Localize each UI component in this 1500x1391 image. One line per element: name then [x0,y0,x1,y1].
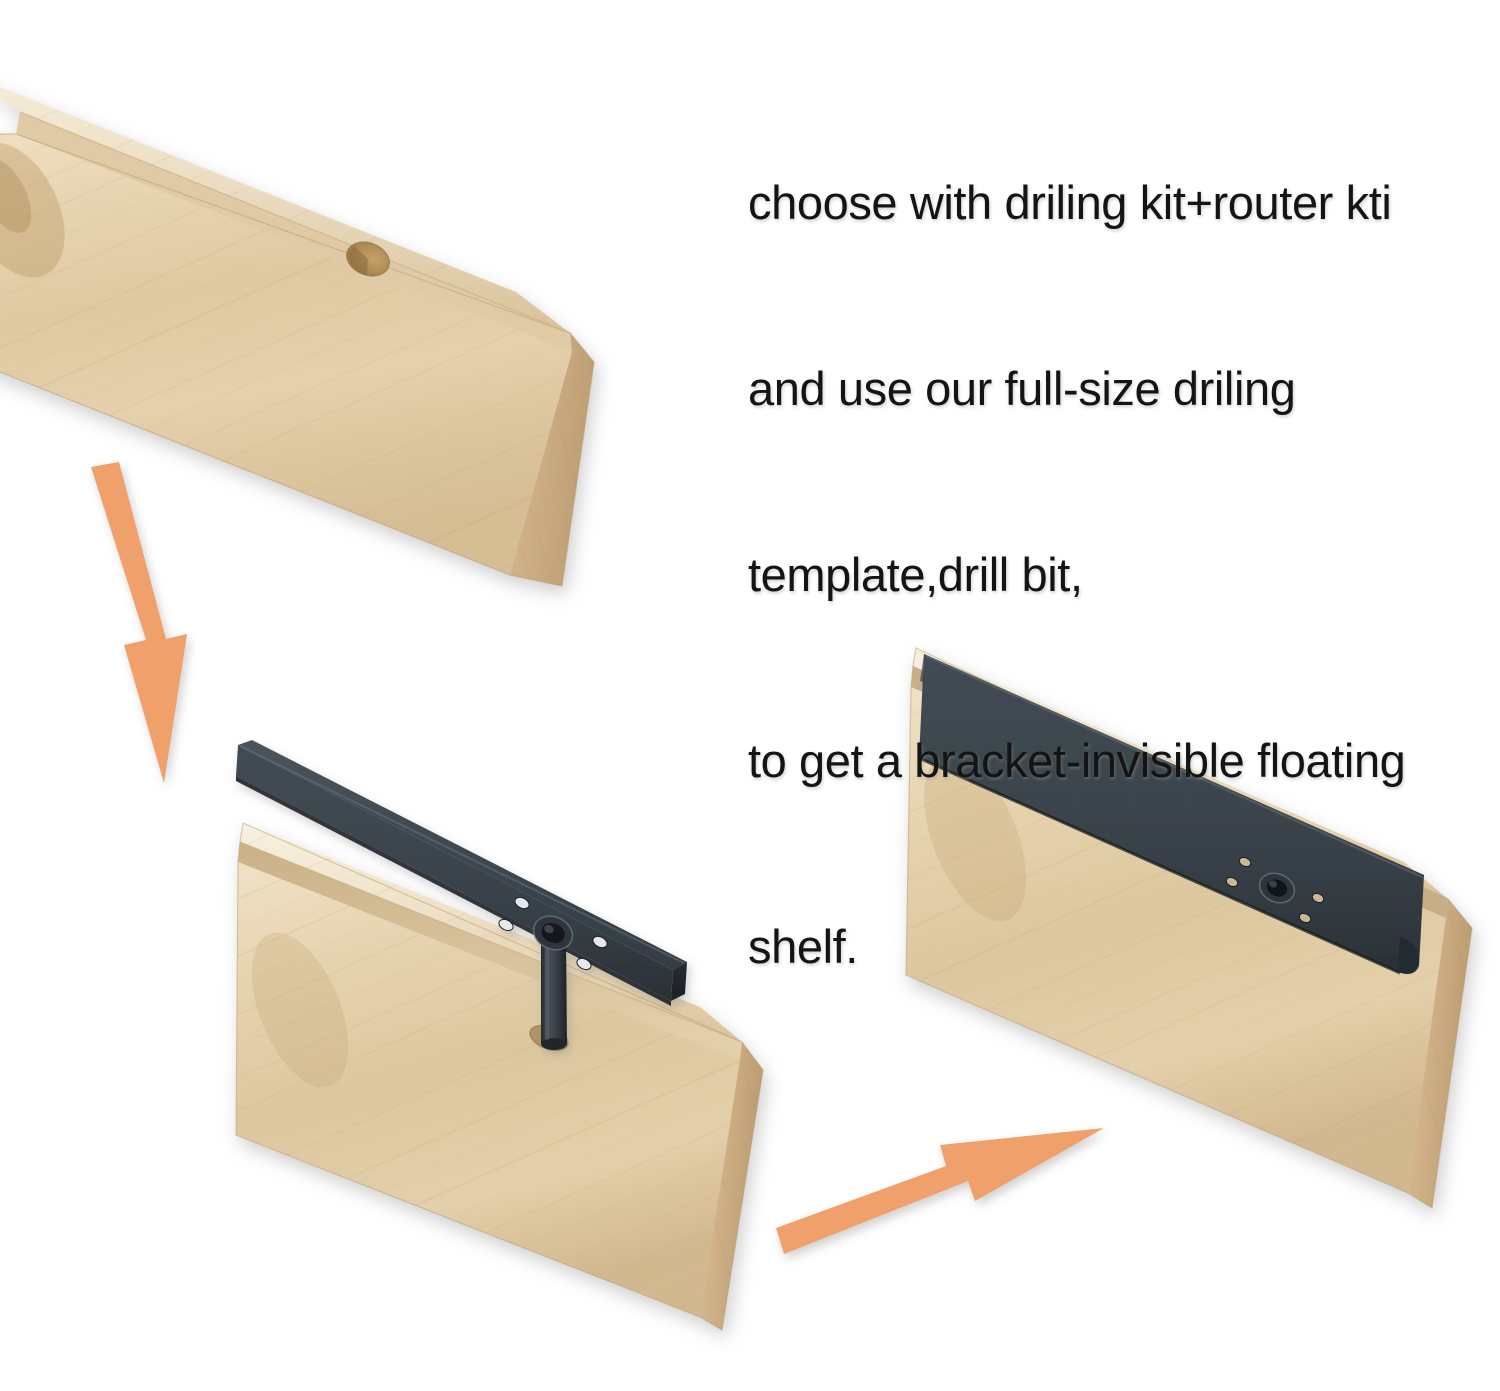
step-2-bracket-insertion [232,740,763,1330]
step-3-assembled-shelf [903,648,1472,1208]
bracket-rod [541,935,567,1050]
arrow-down-left [91,462,187,783]
step-1-drilled-plank [0,75,594,586]
plank1-front-grain [0,134,572,575]
instruction-graphic: choose with driling kit+router kti and u… [0,0,1500,1391]
scene-illustration [0,0,1500,1391]
arrow-up-right [776,1128,1104,1254]
